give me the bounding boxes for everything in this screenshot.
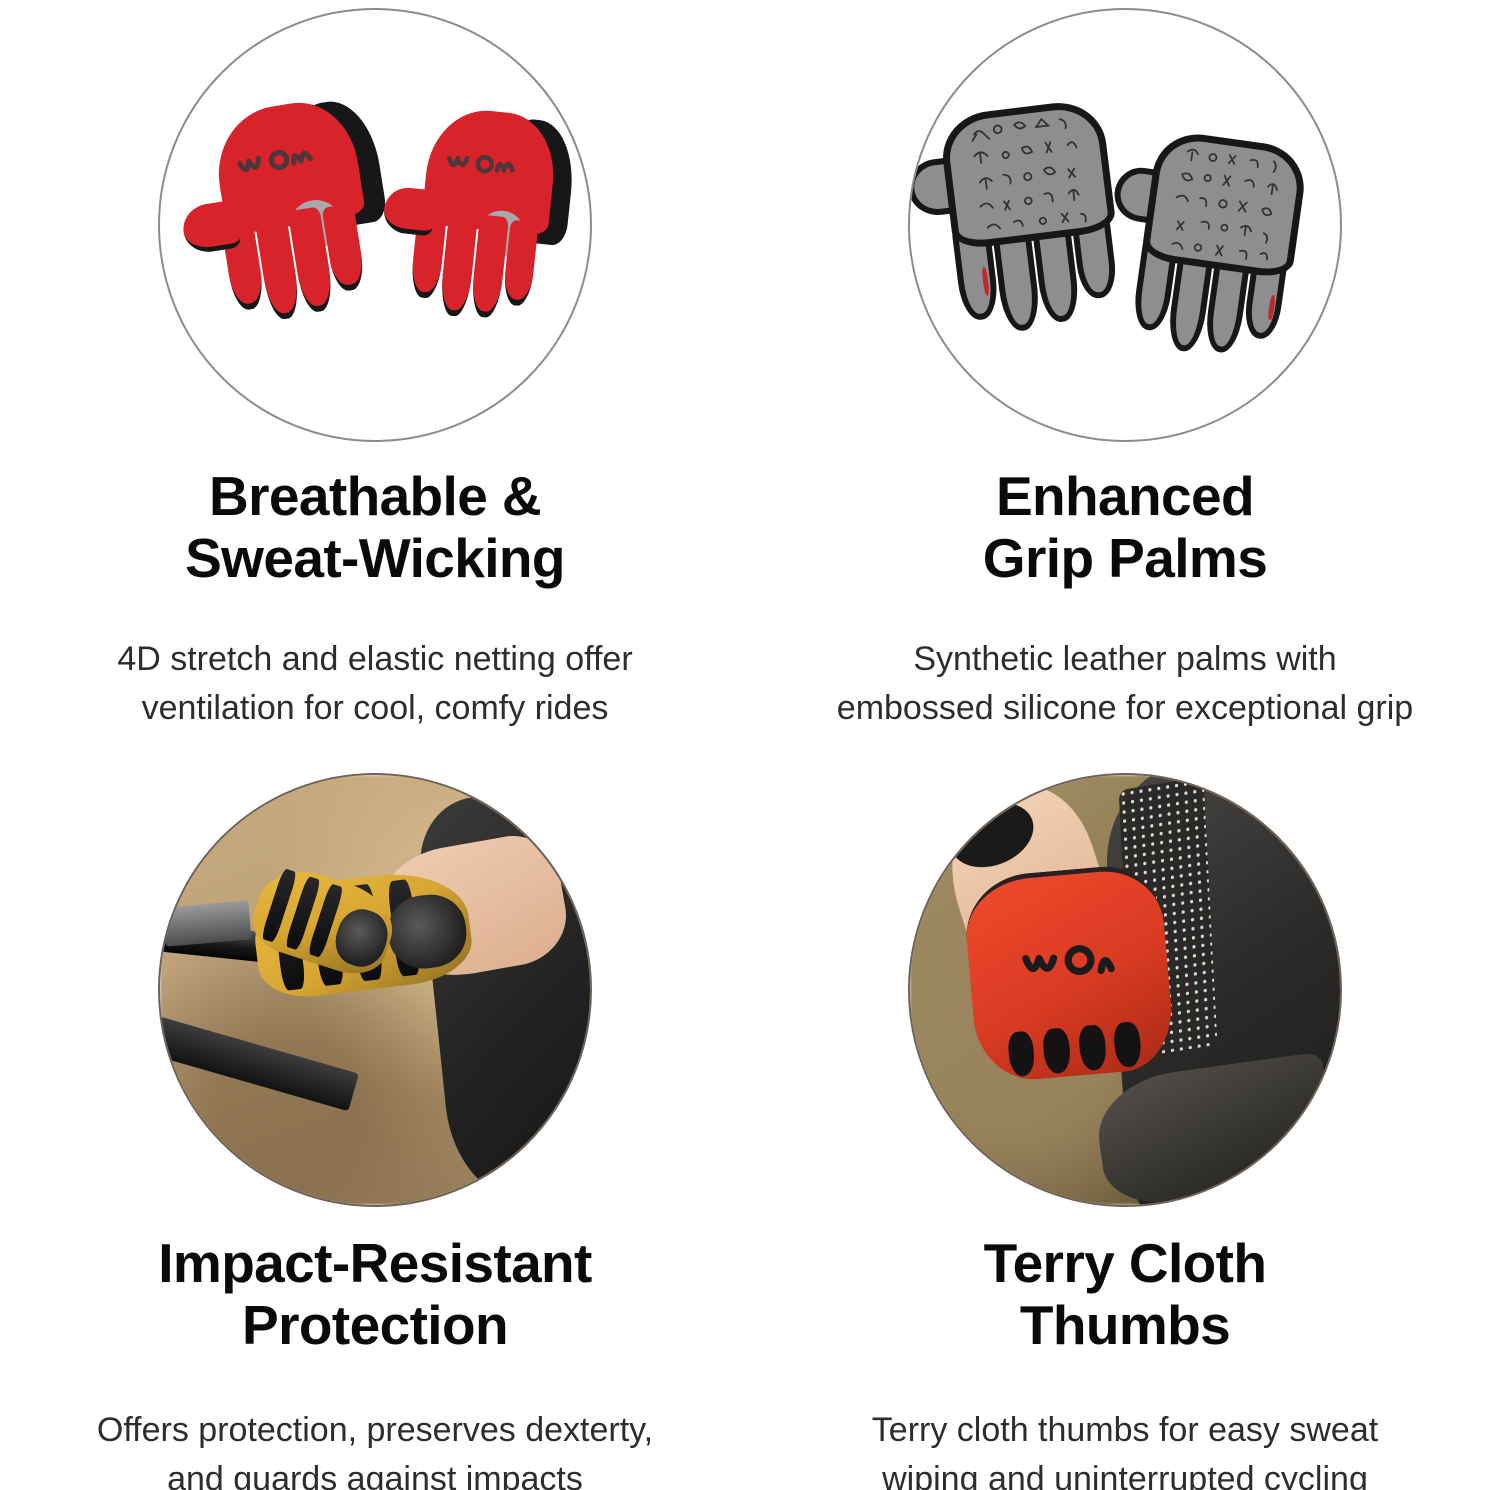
red-glove-hand [962,861,1177,1084]
red-glove-right [369,101,582,332]
feature-body: Offers protection, preserves dexterty, a… [97,1406,653,1490]
media-circle-photo [158,773,592,1207]
glove-palm-panel [1141,129,1310,280]
feature-heading: Enhanced Grip Palms [983,466,1267,589]
red-edge-accent [1267,294,1276,320]
feature-heading: Terry Cloth Thumbs [984,1233,1267,1356]
media-circle-outline [158,8,592,442]
woom-logo-icon [1018,923,1127,1002]
feature-body: 4D stretch and elastic netting offer ven… [117,635,632,733]
red-glove-left [162,91,405,338]
media-circle-photo [908,773,1342,1207]
glove-palm-panel [938,97,1117,251]
red-glove-scene [910,775,1340,1205]
feature-card-grip-palms: Enhanced Grip Palms Synthetic leather pa… [750,0,1500,745]
feature-grid: Breathable & Sweat-Wicking 4D stretch an… [0,0,1500,1490]
red-edge-accent [981,267,990,297]
feature-heading: Breathable & Sweat-Wicking [185,466,565,589]
feature-body: Terry cloth thumbs for easy sweat wiping… [872,1406,1378,1490]
glove-thumb [382,185,437,237]
grey-palm-gloves-illustration [910,10,1340,440]
silicone-doodle-pattern-icon [946,105,1110,243]
red-glove-thumb-photo [908,773,1342,1207]
woom-logo-icon [443,140,520,191]
brake-lever [163,900,252,946]
feature-card-breathable: Breathable & Sweat-Wicking 4D stretch an… [0,0,750,745]
handlebar-grip-photo [158,773,592,1207]
red-gloves-illustration [160,10,590,440]
silicone-doodle-pattern-icon [1148,137,1301,272]
feature-card-impact-protection: Impact-Resistant Protection Offers prote… [0,745,750,1490]
media-circle-outline [908,8,1342,442]
feature-body: Synthetic leather palms with embossed si… [837,635,1413,733]
red-gloves-pair-image [158,8,592,442]
feature-card-terry-thumbs: Terry Cloth Thumbs Terry cloth thumbs fo… [750,745,1500,1490]
glove-thumb [180,200,242,256]
grey-palm-gloves-image [908,8,1342,442]
grey-glove-right [1101,107,1336,359]
feature-heading: Impact-Resistant Protection [158,1233,592,1356]
handlebar-scene [160,775,590,1205]
